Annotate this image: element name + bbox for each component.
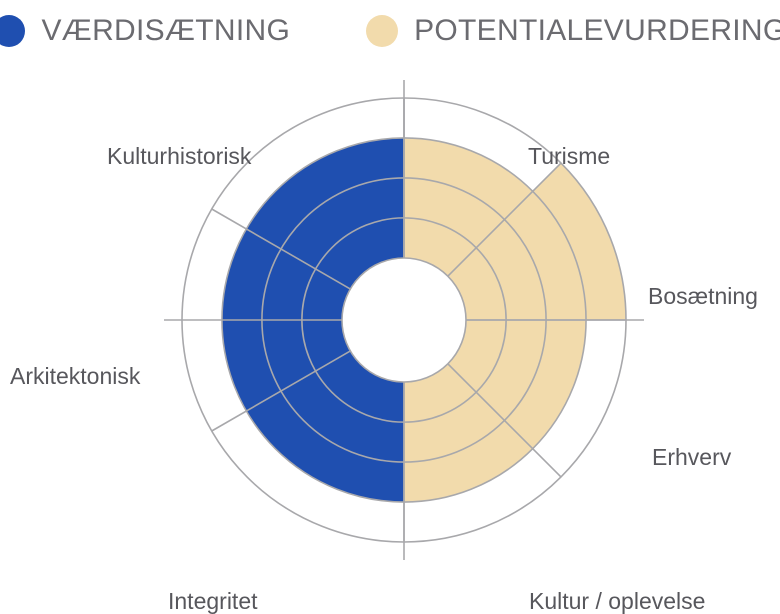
chart-center-hole — [342, 258, 466, 382]
axis-label-erhverv: Erhverv — [652, 446, 731, 469]
legend-label-potentialevurdering: POTENTIALEVURDERING — [414, 16, 780, 46]
chart-page: VÆRDISÆTNING POTENTIALEVURDERING Kulturh… — [0, 0, 780, 614]
legend-item-vaerdisaetning[interactable]: VÆRDISÆTNING — [0, 15, 290, 47]
axis-label-integritet: Integritet — [168, 590, 258, 613]
legend-swatch-potentialevurdering-icon — [366, 15, 398, 47]
legend-label-vaerdisaetning: VÆRDISÆTNING — [41, 16, 290, 46]
legend-swatch-vaerdisaetning-icon — [0, 15, 25, 47]
legend-item-potentialevurdering[interactable]: POTENTIALEVURDERING — [366, 15, 780, 47]
axis-label-kultur-oplevelse: Kultur / oplevelse — [529, 590, 705, 613]
axis-label-turisme: Turisme — [528, 145, 610, 168]
polar-rose-chart: Kulturhistorisk Turisme Bosætning Erhver… — [0, 52, 780, 614]
axis-label-kulturhistorisk: Kulturhistorisk — [107, 145, 251, 168]
axis-label-bosaetning: Bosætning — [648, 285, 758, 308]
axis-label-arkitektonisk: Arkitektonisk — [10, 365, 140, 388]
chart-canvas — [0, 52, 780, 614]
